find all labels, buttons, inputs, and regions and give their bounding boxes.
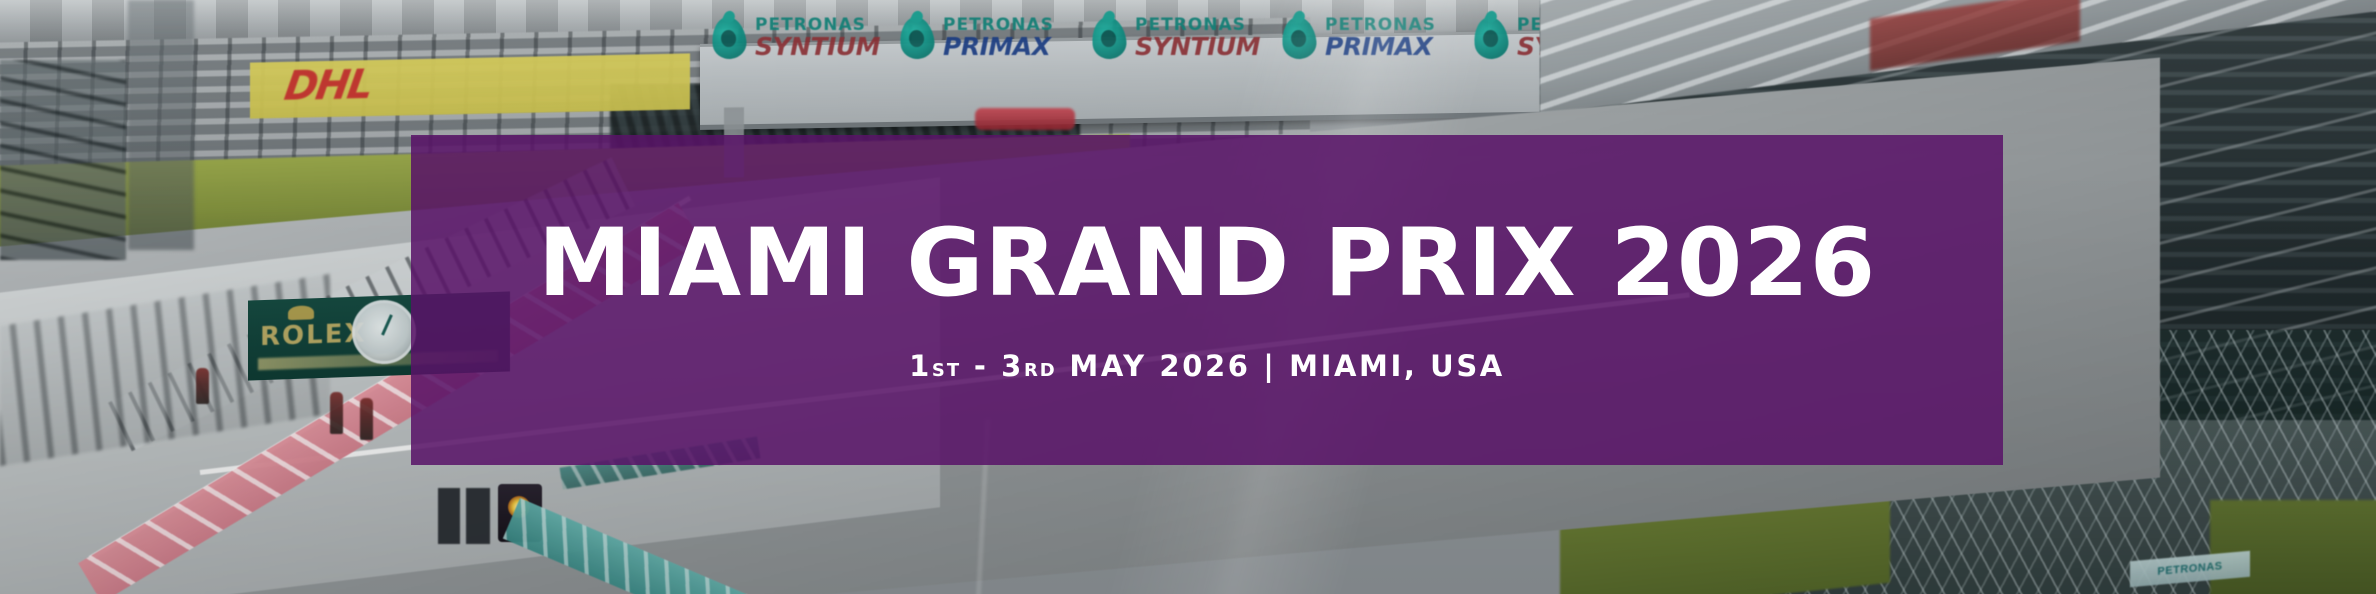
marshal-figure bbox=[360, 398, 373, 440]
end-day: 3 bbox=[1001, 349, 1024, 383]
marshal-post bbox=[975, 108, 1075, 130]
gantry-sign-1: PETRONAS SYNTIUM bbox=[712, 10, 880, 66]
gantry-sign-words: PETRONAS SYNTIUM bbox=[755, 17, 880, 59]
far-right-grass bbox=[2210, 500, 2376, 594]
event-title: MIAMI GRAND PRIX 2026 bbox=[538, 217, 1876, 311]
date-separator: - bbox=[961, 349, 1001, 383]
event-month-year-location: MAY 2026 | MIAMI, USA bbox=[1057, 349, 1505, 383]
dhl-logo-text: DHL bbox=[282, 59, 549, 109]
petronas-droplet-icon bbox=[1472, 15, 1510, 60]
rolex-crown-icon bbox=[288, 305, 314, 320]
petronas-droplet-icon bbox=[1280, 15, 1318, 60]
gantry-sign-words: PETRONAS SYNTIUM bbox=[1135, 17, 1260, 59]
gantry-sign-words: PETRONAS PRIMAX bbox=[943, 17, 1054, 59]
left-service-tower bbox=[0, 60, 126, 260]
petronas-droplet-icon bbox=[710, 15, 748, 60]
left-structural-pillar bbox=[128, 0, 194, 250]
event-hero-banner: DHL PETRONAS SYNTIUM PETRONAS PRIMAX PET… bbox=[0, 0, 2376, 594]
gantry-sign-3: PETRONAS SYNTIUM bbox=[1092, 10, 1260, 66]
rolex-logo-text: ROLEX bbox=[260, 318, 367, 352]
petronas-droplet-icon bbox=[898, 15, 936, 60]
event-subtitle: 1ST - 3RD MAY 2026 | MIAMI, USA bbox=[909, 349, 1505, 383]
start-day: 1 bbox=[909, 349, 932, 383]
gantry-sign-2: PETRONAS PRIMAX bbox=[900, 10, 1054, 66]
petronas-droplet-icon bbox=[1090, 15, 1128, 60]
marshal-figure bbox=[196, 368, 209, 404]
event-overlay-panel: MIAMI GRAND PRIX 2026 1ST - 3RD MAY 2026… bbox=[411, 135, 2003, 465]
pit-exit-signal-panels bbox=[438, 488, 490, 544]
trackside-clock bbox=[352, 300, 416, 364]
gantry-sign-words: PETRONAS PRIMAX bbox=[1325, 17, 1436, 59]
marshal-figure bbox=[330, 392, 343, 434]
gantry-sign-4: PETRONAS PRIMAX bbox=[1282, 10, 1436, 66]
